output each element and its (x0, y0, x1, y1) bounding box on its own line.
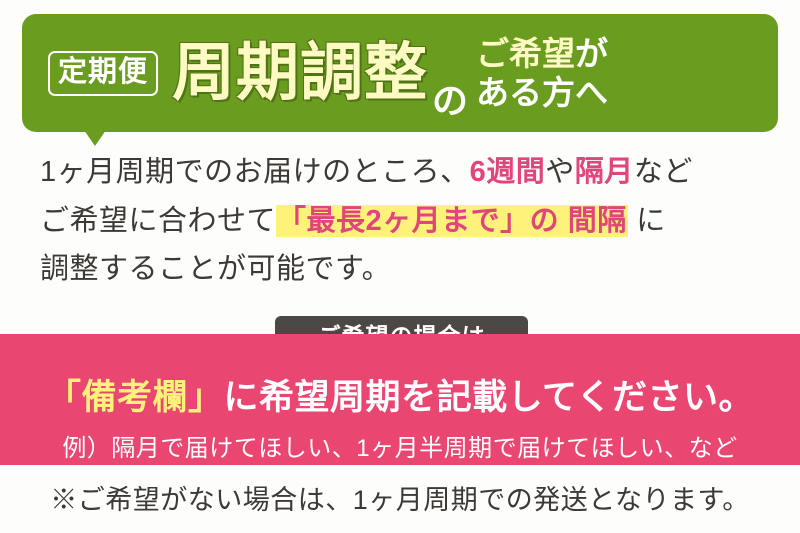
body-line1-plain-a: 1ヶ月周期でのお届けのところ、 (40, 156, 470, 188)
body-line-1: 1ヶ月周期でのお届けのところ、6週間や隔月など (40, 148, 770, 197)
body-line1-plain-b: や (545, 156, 575, 188)
body-line2-plain-b: に (628, 205, 666, 237)
body-line1-plain-c: など (634, 156, 693, 188)
body-line-2: ご希望に合わせて「最長2ヶ月まで」の 間隔 に (40, 197, 770, 246)
banner-content: 定期便 周期調整 の ご希望が ある方へ (22, 14, 778, 132)
footer-note: ※ご希望がない場合は、1ヶ月周期での発送となります。 (0, 478, 800, 517)
pink-headline-white-c: を記載してください。 (401, 378, 754, 417)
header-banner: 定期便 周期調整 の ご希望が ある方へ (22, 14, 778, 132)
pink-headline-yellow: 「備考欄」 (46, 378, 224, 417)
body-line2-highlight: 「最長2ヶ月まで」の 間隔 (276, 205, 628, 237)
banner-subtitle-line2: ある方へ (476, 74, 608, 111)
pink-headline-white-b: 希望周期 (259, 378, 401, 417)
banner-subtitle-line1: ご希望が (476, 35, 608, 72)
pink-example: 例）隔月で届けてほしい、1ヶ月半周期で届けてほしい、など (0, 428, 800, 463)
body-line1-pink-1: 6週間 (470, 156, 546, 188)
banner-badge: 定期便 (48, 51, 158, 96)
pink-headline-white-a: に (224, 378, 260, 417)
banner-title: 周期調整 (172, 42, 428, 105)
banner-subtitle-emphasis: ご希望 (476, 35, 575, 72)
body-text: 1ヶ月周期でのお届けのところ、6週間や隔月など ご希望に合わせて「最長2ヶ月まで… (40, 148, 770, 294)
pink-headline: 「備考欄」に希望周期を記載してください。 (0, 369, 800, 420)
banner-subtitle-suffix: が (575, 35, 608, 72)
body-line2-plain-a: ご希望に合わせて (40, 205, 276, 237)
promo-graphic: 定期便 周期調整 の ご希望が ある方へ 1ヶ月周期でのお届けのところ、6週間や… (0, 0, 800, 533)
body-line-3: 調整することが可能です。 (40, 245, 770, 294)
banner-particle: の (432, 72, 468, 132)
banner-subtitle: ご希望が ある方へ (476, 35, 608, 113)
banner-pointer-icon (84, 130, 106, 146)
body-line1-pink-2: 隔月 (575, 156, 634, 188)
